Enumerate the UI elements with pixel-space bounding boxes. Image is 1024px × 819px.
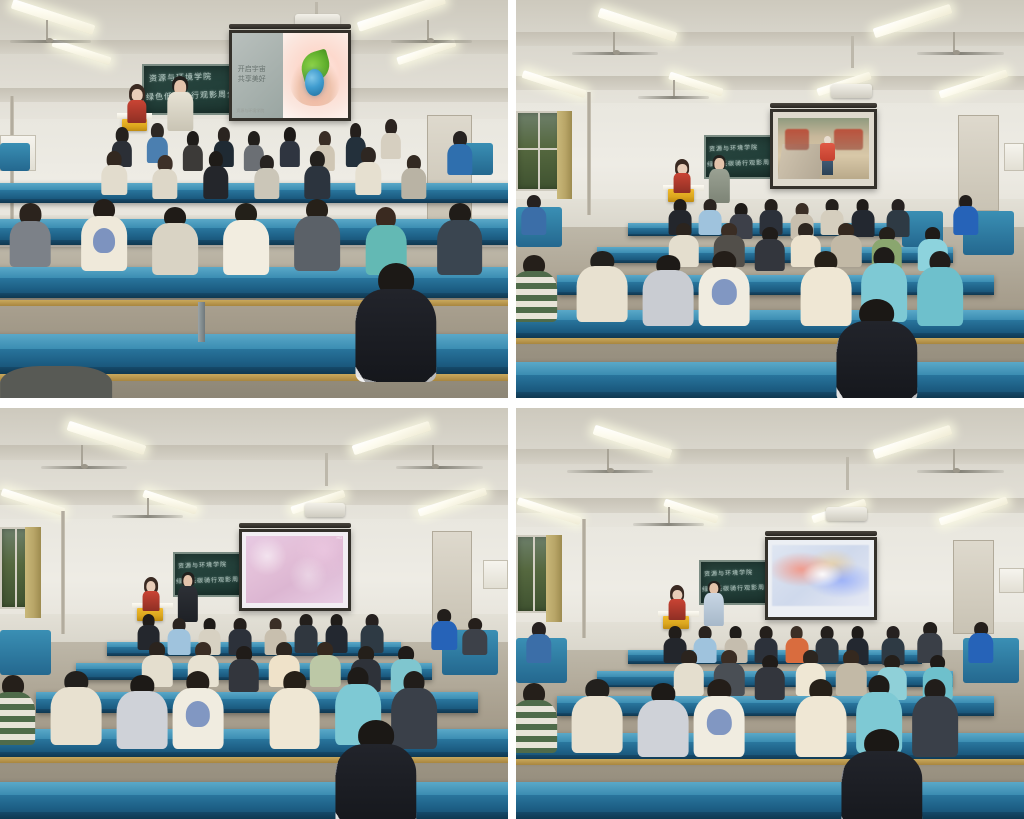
bench-wood-rail (516, 338, 1024, 344)
blackboard-line-1: 资源与环境学院 (709, 142, 758, 153)
ceiling-beam (516, 32, 1024, 46)
projection-screen: HD (239, 529, 351, 611)
ceiling-fan-rod (427, 20, 429, 40)
student (295, 199, 341, 271)
projector (826, 507, 867, 522)
student (152, 155, 177, 199)
speaker-male (178, 572, 198, 621)
ceiling-fan-rod (81, 445, 83, 466)
projection-screen: 开启宇宙 共享美好 资源与环境学院 (229, 30, 351, 122)
student (968, 622, 993, 663)
bench-row (0, 782, 508, 819)
blackboard-line-1: 资源与环境学院 (178, 559, 227, 570)
screen-roller (239, 523, 351, 528)
student (755, 227, 785, 271)
student (699, 251, 750, 327)
person-in-video (820, 136, 835, 174)
student (10, 203, 51, 267)
bench-row (516, 782, 1024, 819)
student (638, 683, 689, 757)
torso (168, 92, 193, 131)
speaker-male (704, 581, 724, 626)
wall-pipe (587, 92, 591, 215)
student-foreground (841, 729, 922, 819)
video-frame (778, 118, 869, 180)
ceiling-fan-rod (46, 20, 48, 40)
slide-video (773, 112, 874, 186)
collage-panel-top-left[interactable]: 资源与环境学院 绿色低碳骑行观影周全程 开启宇宙 共享美好 (0, 0, 508, 398)
student-foreground (356, 263, 437, 382)
student (462, 618, 487, 655)
ceiling-fan-blade (112, 515, 183, 518)
student (269, 671, 320, 749)
slide-abstract-light (768, 540, 874, 616)
globe-graphic (305, 69, 324, 96)
slide-right-image (283, 33, 348, 119)
ceiling (516, 0, 1024, 119)
student (521, 195, 546, 235)
screen-surface (768, 540, 874, 616)
screen-badge: HD (336, 535, 342, 540)
wall-poster (483, 560, 508, 589)
student (51, 671, 102, 745)
student (224, 203, 270, 275)
crowd (785, 129, 809, 150)
speaker-female (668, 585, 686, 620)
screen-surface: HD (242, 532, 348, 608)
student (229, 646, 259, 691)
curtain (546, 535, 561, 621)
student-foreground (0, 366, 112, 398)
bench-leg (198, 302, 205, 342)
ceiling-fan-hub (953, 468, 960, 473)
wall-pipe (582, 519, 586, 638)
collage-panel-top-right[interactable]: 资源与环境学院 绿色低碳骑行观影周全程 (516, 0, 1024, 398)
student (152, 207, 198, 275)
ceiling-fan-rod (953, 32, 955, 52)
student (183, 131, 203, 171)
student (381, 119, 401, 159)
student (643, 255, 694, 327)
student-foreground (836, 299, 917, 399)
pink-texture-image (246, 536, 343, 603)
student (356, 147, 381, 195)
student (953, 195, 978, 235)
abstract-light-image (772, 545, 869, 606)
ceiling-fan-blade (638, 96, 709, 99)
classroom-scene-bottom-right: 资源与环境学院 绿色低碳骑行观影周全程 (516, 408, 1024, 819)
screen-surface (773, 112, 874, 186)
projector (305, 503, 346, 518)
ceiling-fan-blade (917, 470, 1003, 473)
student (279, 127, 299, 167)
projector (831, 84, 872, 98)
slide-left-panel: 开启宇宙 共享美好 (232, 33, 283, 119)
projector-mount (851, 36, 854, 68)
chair (0, 143, 30, 171)
ceiling-fan-hub (613, 50, 620, 55)
door (953, 540, 994, 635)
slide-footer: 资源与环境学院 (236, 108, 264, 114)
ceiling-fan-rod (953, 449, 955, 470)
student (694, 679, 745, 757)
speaker-male (168, 76, 193, 132)
screen-roller (765, 531, 877, 536)
student (577, 251, 628, 323)
student (173, 671, 224, 749)
ceiling-fan-blade (917, 52, 1003, 55)
student (755, 655, 785, 700)
head (132, 89, 143, 101)
classroom-scene-bottom-left: 资源与环境学院 绿色低碳骑行观影周全程 HD (0, 408, 508, 819)
student (526, 622, 551, 663)
ceiling-beam (516, 498, 1024, 513)
student (401, 155, 426, 199)
student (795, 679, 846, 757)
photo-collage: 资源与环境学院 绿色低碳骑行观影周全程 开启宇宙 共享美好 (0, 0, 1024, 819)
student (917, 251, 963, 327)
speaker-female (127, 84, 147, 124)
ceiling-fan-rod (432, 445, 434, 466)
ceiling-fan-rod (147, 498, 149, 514)
curtain (557, 111, 572, 199)
blackboard-line-1: 资源与环境学院 (704, 567, 753, 578)
ceiling-fan-hub (432, 464, 439, 469)
screen-surface: 开启宇宙 共享美好 资源与环境学院 (232, 33, 348, 119)
bench-wood-rail (0, 757, 508, 763)
speaker-female (142, 577, 160, 612)
ceiling-fan-rod (613, 32, 615, 52)
wall-poster (1004, 143, 1024, 171)
bench-row (516, 362, 1024, 398)
collage-panel-bottom-left[interactable]: 资源与环境学院 绿色低碳骑行观影周全程 HD (0, 408, 508, 819)
classroom-scene-top-left: 资源与环境学院 绿色低碳骑行观影周全程 开启宇宙 共享美好 (0, 0, 508, 398)
student (203, 151, 228, 199)
window (516, 111, 562, 191)
student (437, 203, 483, 275)
classroom-scene-top-right: 资源与环境学院 绿色低碳骑行观影周全程 (516, 0, 1024, 398)
collage-panel-bottom-right[interactable]: 资源与环境学院 绿色低碳骑行观影周全程 (516, 408, 1024, 819)
student (432, 609, 457, 650)
speaker-male (709, 155, 729, 203)
student (572, 679, 623, 753)
student (254, 155, 279, 199)
slide-pink-texture: HD (242, 532, 348, 608)
student (516, 683, 557, 753)
speaker-female (673, 159, 691, 193)
screen-roller (770, 103, 877, 108)
projection-screen (765, 537, 877, 619)
wall-poster (999, 568, 1024, 593)
student (117, 675, 168, 749)
ceiling-beam (516, 449, 1024, 464)
ceiling-fan-rod (668, 507, 670, 523)
ceiling-fan-rod (673, 80, 675, 96)
student-foreground (335, 720, 416, 819)
slide-title-line-2: 共享美好 (238, 74, 266, 84)
ceiling-fan-hub (427, 38, 434, 43)
ceiling-fan-blade (633, 523, 704, 526)
ceiling-beam (0, 490, 508, 505)
screen-roller (229, 24, 351, 29)
torso (128, 100, 147, 123)
wall-pipe (61, 511, 65, 634)
ceiling-fan-hub (46, 38, 53, 43)
crowd (834, 129, 863, 150)
ceiling-fan-blade (396, 466, 482, 469)
projector-mount (325, 453, 328, 486)
student (305, 151, 330, 199)
student (81, 199, 127, 271)
projection-screen (770, 109, 877, 189)
student (516, 255, 557, 323)
projector-mount (846, 457, 849, 490)
curtain (25, 527, 40, 617)
student (447, 131, 472, 175)
bench-wood-rail (516, 759, 1024, 765)
student (102, 151, 127, 195)
slide-title-line-1: 开启宇宙 (238, 64, 266, 74)
slide-eco: 开启宇宙 共享美好 资源与环境学院 (232, 33, 348, 119)
student (0, 675, 36, 745)
ceiling-fan-rod (607, 449, 609, 470)
chair (0, 630, 51, 675)
